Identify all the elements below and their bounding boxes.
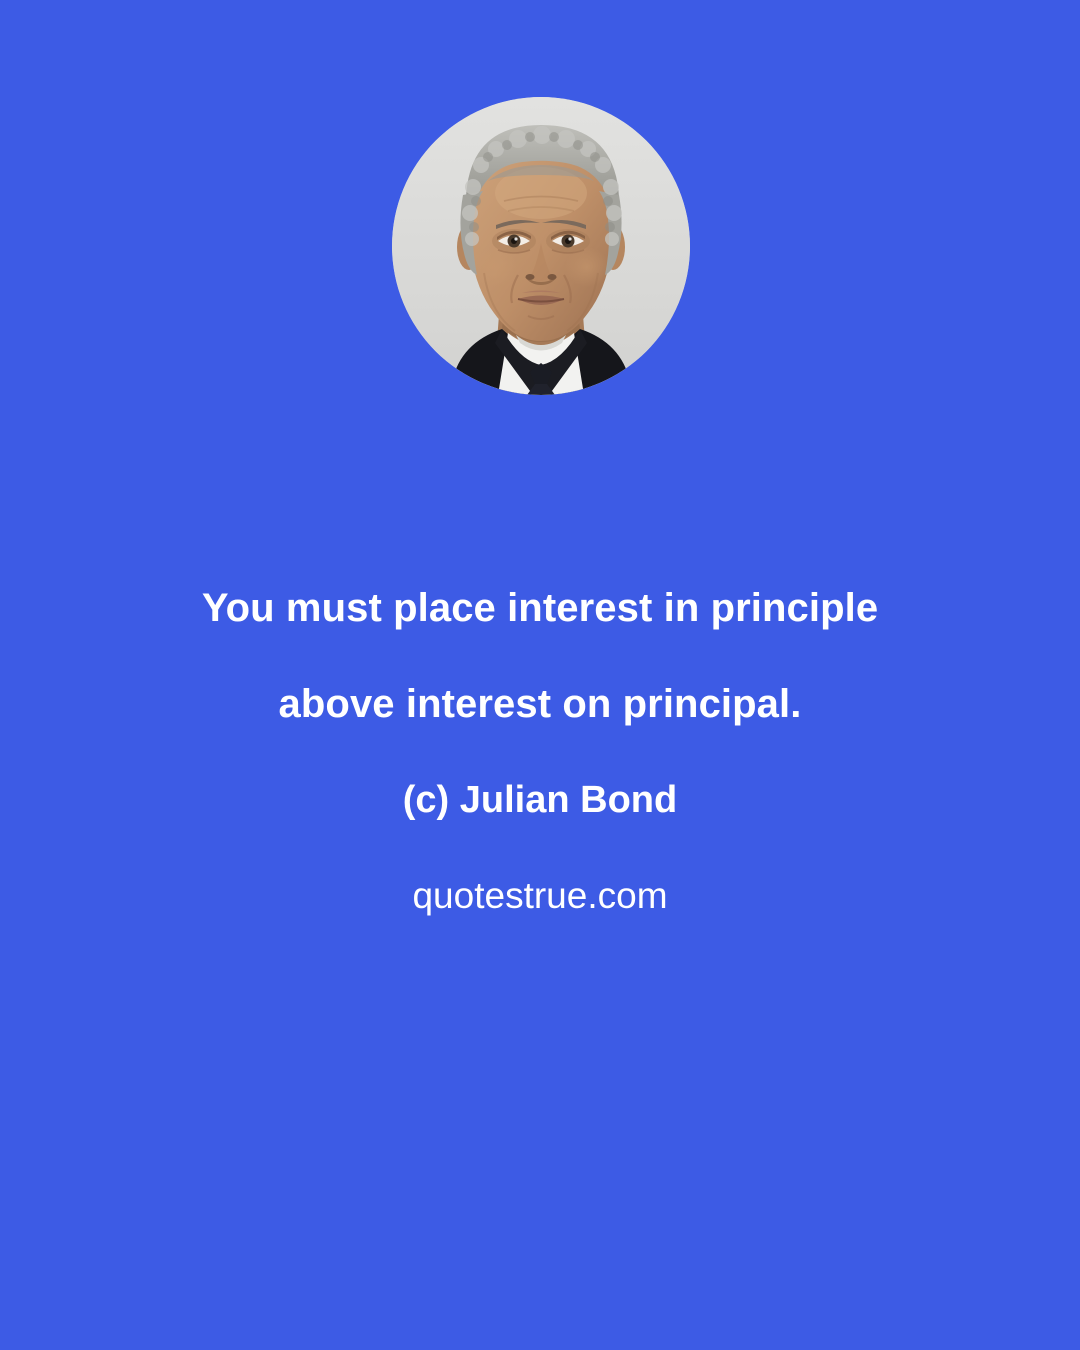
quote-text-block: You must place interest in principle abo… — [0, 560, 1080, 944]
website-credit: quotestrue.com — [70, 848, 1010, 944]
quote-card: You must place interest in principle abo… — [0, 0, 1080, 1350]
portrait-container — [392, 97, 690, 395]
avatar — [392, 97, 690, 395]
quote-line-1: You must place interest in principle — [70, 560, 1010, 656]
quote-line-2: above interest on principal. — [70, 656, 1010, 752]
portrait-illustration — [392, 97, 690, 395]
quote-author: (c) Julian Bond — [70, 752, 1010, 848]
